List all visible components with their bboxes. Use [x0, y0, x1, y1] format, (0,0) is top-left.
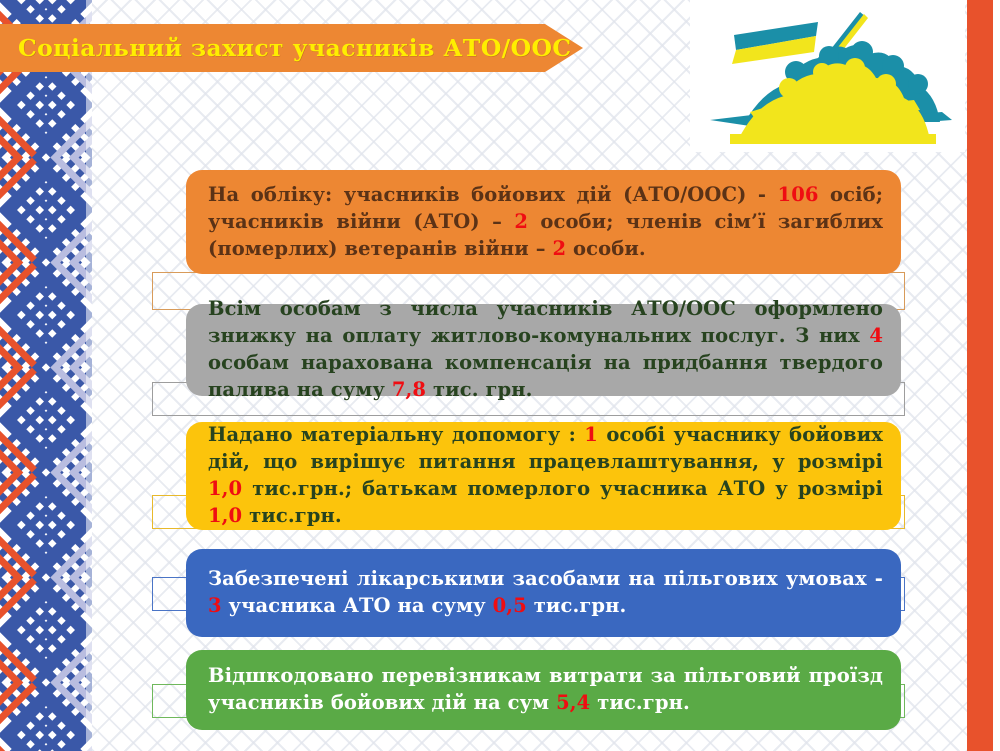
highlighted-number: 0,5	[493, 594, 527, 617]
slide-canvas: На обліку: учасників бойових дій (АТО/ОО…	[0, 0, 1000, 751]
slide-title-banner: Соціальний захист учасників АТО/ООС	[0, 24, 583, 72]
highlighted-number: 1,0	[208, 477, 242, 500]
box-utility-discount-text: Всім особам з числа учасників АТО/ООС оф…	[208, 295, 883, 403]
highlighted-number: 2	[552, 237, 566, 260]
flag-raising-monument-image	[690, 0, 965, 152]
highlighted-number: 2	[514, 210, 528, 233]
highlighted-number: 3	[208, 594, 222, 617]
box-material-aid[interactable]: Надано матеріальну допомогу : 1 особі уч…	[186, 422, 901, 530]
box-material-aid-text: Надано матеріальну допомогу : 1 особі уч…	[208, 421, 883, 529]
highlighted-number: 1	[584, 423, 598, 446]
box-transport[interactable]: Відшкодовано перевізникам витрати за піл…	[186, 650, 901, 730]
highlighted-number: 5,4	[556, 691, 590, 714]
box-registered[interactable]: На обліку: учасників бойових дій (АТО/ОО…	[186, 170, 901, 274]
highlighted-number: 4	[869, 324, 883, 347]
highlighted-number: 1,0	[208, 504, 242, 527]
box-medicine-text: Забезпечені лікарськими засобами на піль…	[208, 565, 883, 619]
box-registered-text: На обліку: учасників бойових дій (АТО/ОО…	[208, 181, 883, 262]
box-utility-discount[interactable]: Всім особам з числа учасників АТО/ООС оф…	[186, 304, 901, 396]
page-title: Соціальний захист учасників АТО/ООС	[18, 24, 572, 72]
box-medicine[interactable]: Забезпечені лікарськими засобами на піль…	[186, 549, 901, 637]
highlighted-number: 7,8	[392, 378, 426, 401]
box-transport-text: Відшкодовано перевізникам витрати за піл…	[208, 662, 883, 716]
highlighted-number: 106	[778, 183, 819, 206]
